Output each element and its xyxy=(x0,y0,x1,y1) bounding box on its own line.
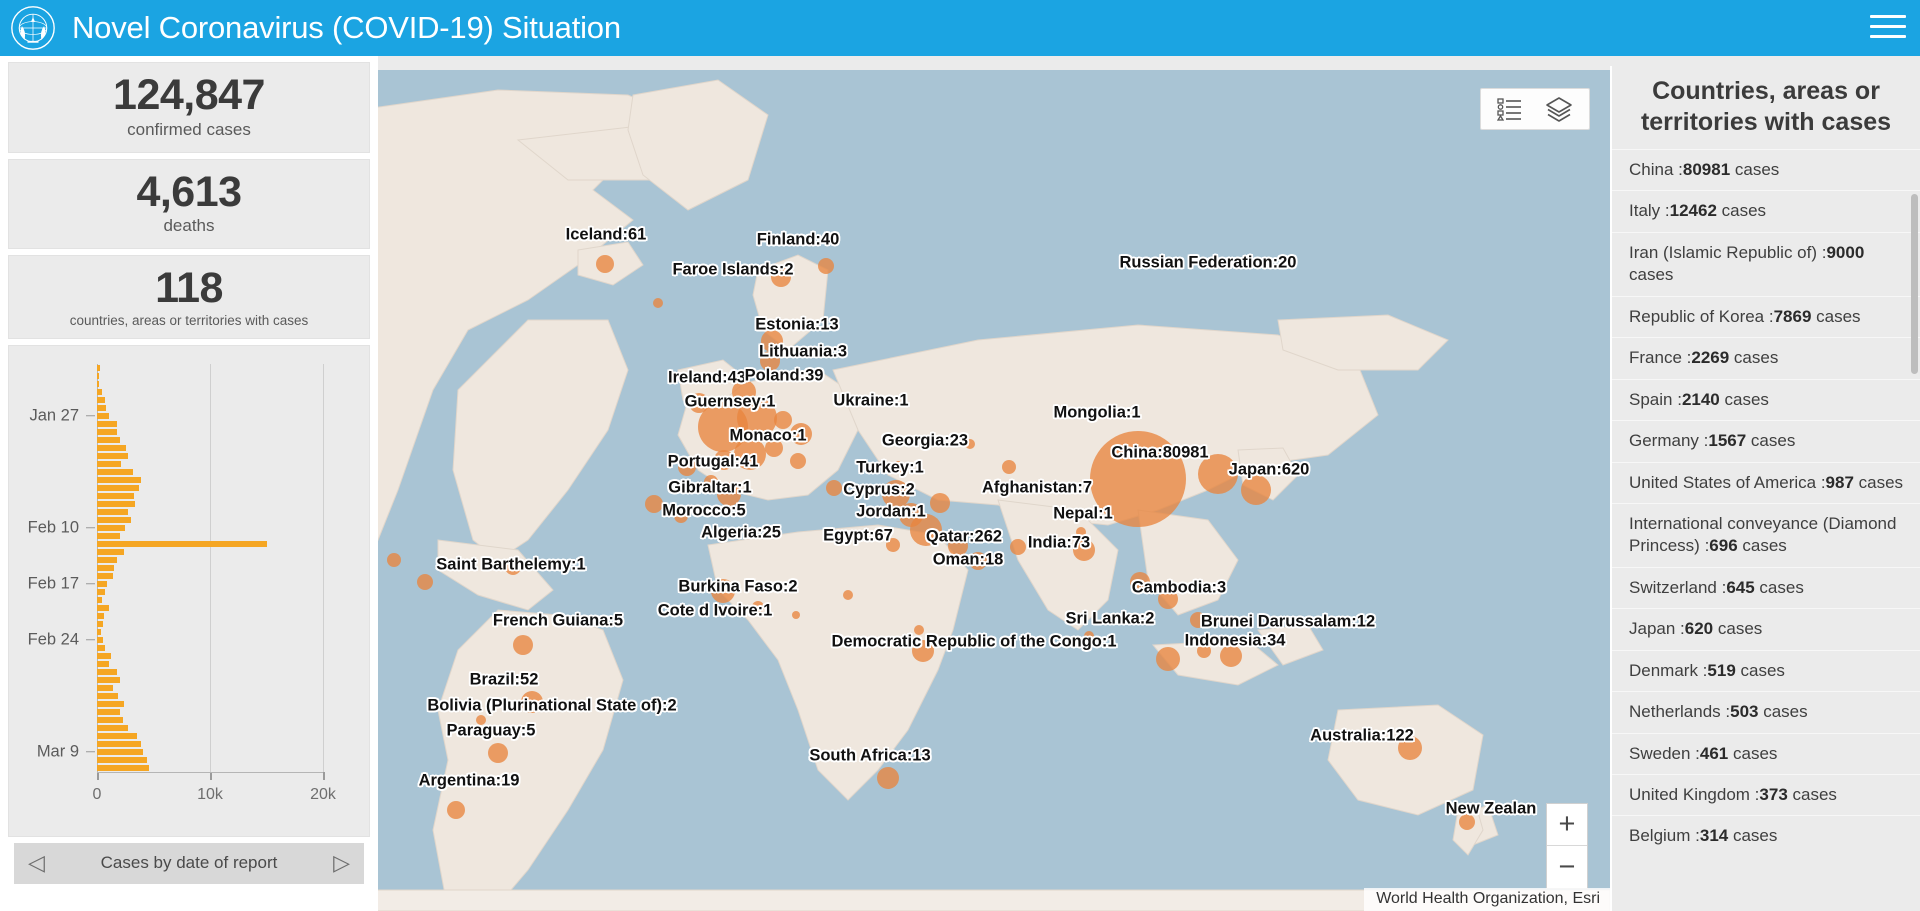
map-case-marker[interactable] xyxy=(771,267,791,287)
chart-bar[interactable] xyxy=(97,493,134,499)
chart-bar[interactable] xyxy=(97,637,103,643)
chart-bar[interactable] xyxy=(97,581,107,587)
chart-y-tick-label: Feb 17 xyxy=(28,574,79,593)
country-case-count: 2269 xyxy=(1691,348,1729,367)
chart-bar[interactable] xyxy=(97,589,105,595)
map-case-marker[interactable] xyxy=(737,398,777,438)
map-case-marker[interactable] xyxy=(914,625,924,635)
country-case-count: 645 xyxy=(1726,578,1754,597)
chart-bar[interactable] xyxy=(97,421,117,427)
map-case-marker[interactable] xyxy=(792,611,800,619)
covid-dashboard: Novel Coronavirus (COVID-19) Situation 1… xyxy=(0,0,1920,911)
chart-bar[interactable] xyxy=(97,477,141,483)
country-case-suffix: cases xyxy=(1759,702,1808,721)
chart-x-tick-label: 20k xyxy=(310,786,336,804)
chart-bar[interactable] xyxy=(97,389,102,395)
map-case-marker[interactable] xyxy=(674,509,688,523)
map-case-marker[interactable] xyxy=(877,767,899,789)
country-case-suffix: cases xyxy=(1717,201,1766,220)
country-case-count: 519 xyxy=(1707,661,1735,680)
country-case-count: 503 xyxy=(1730,702,1758,721)
map-tools-bar[interactable] xyxy=(1480,88,1590,130)
chart-bar[interactable] xyxy=(97,365,100,371)
map-case-marker[interactable] xyxy=(818,258,834,274)
country-case-suffix: cases xyxy=(1728,744,1777,763)
map-case-marker[interactable] xyxy=(1220,645,1242,667)
stat-card-confirmed-cases: 124,847 confirmed cases xyxy=(8,62,370,153)
chart-bar[interactable] xyxy=(97,653,111,659)
chart-y-tick-label: Mar 9 xyxy=(37,742,79,761)
country-list-item[interactable]: United States of America :987 cases xyxy=(1612,462,1920,503)
map-case-marker[interactable] xyxy=(969,552,987,570)
map-case-marker[interactable] xyxy=(1073,539,1095,561)
cases-by-date-chart[interactable]: 010k20kJan 27Feb 10Feb 17Feb 24Mar 9 xyxy=(8,345,370,837)
country-case-count: 80981 xyxy=(1683,160,1730,179)
countries-panel-title: Countries, areas or territories with cas… xyxy=(1612,66,1920,149)
chart-bar[interactable] xyxy=(97,605,109,611)
map-case-marker[interactable] xyxy=(704,475,718,489)
chart-bar[interactable] xyxy=(97,525,125,531)
chart-y-tick-mark xyxy=(86,527,95,529)
country-name: Switzerland : xyxy=(1629,578,1726,597)
country-list-item[interactable]: Denmark :519 cases xyxy=(1612,650,1920,691)
country-name: Belgium : xyxy=(1629,826,1700,845)
chart-bar[interactable] xyxy=(97,429,117,435)
chart-y-tick-label: Feb 24 xyxy=(28,630,79,649)
map-case-marker[interactable] xyxy=(1076,527,1086,537)
chart-bar[interactable] xyxy=(97,749,143,755)
chart-bar[interactable] xyxy=(97,373,99,379)
chart-bar[interactable] xyxy=(97,613,104,619)
chart-y-tick-label: Jan 27 xyxy=(29,406,79,425)
country-case-count: 373 xyxy=(1759,785,1787,804)
map-case-marker[interactable] xyxy=(521,691,543,713)
left-stats-panel: 124,847 confirmed cases 4,613 deaths 118… xyxy=(0,56,378,911)
country-name: China : xyxy=(1629,160,1683,179)
chart-bar[interactable] xyxy=(97,597,102,603)
country-case-suffix: cases xyxy=(1736,661,1785,680)
country-case-count: 1567 xyxy=(1708,431,1746,450)
country-list-item[interactable]: Germany :1567 cases xyxy=(1612,420,1920,461)
country-name: Spain : xyxy=(1629,390,1682,409)
map-case-marker[interactable] xyxy=(760,351,780,371)
country-case-count: 987 xyxy=(1826,473,1854,492)
chart-x-tick-mark xyxy=(210,772,212,780)
map-case-marker[interactable] xyxy=(1002,460,1016,474)
country-case-suffix: cases xyxy=(1713,619,1762,638)
country-list-item[interactable]: Spain :2140 cases xyxy=(1612,379,1920,420)
country-case-suffix: cases xyxy=(1811,307,1860,326)
map-case-marker[interactable] xyxy=(965,439,975,449)
chart-caption: Cases by date of report xyxy=(101,853,278,873)
chart-bar[interactable] xyxy=(97,461,121,467)
who-emblem-icon xyxy=(10,5,56,51)
chart-gridline xyxy=(210,364,211,772)
chart-x-tick-label: 10k xyxy=(197,786,223,804)
deaths-label: deaths xyxy=(13,216,365,236)
chart-bar[interactable] xyxy=(97,717,123,723)
map-case-marker[interactable] xyxy=(513,635,533,655)
chart-bar[interactable] xyxy=(97,533,120,539)
map-case-marker[interactable] xyxy=(790,423,812,445)
map-case-marker[interactable] xyxy=(886,538,900,552)
country-name: Germany : xyxy=(1629,431,1708,450)
country-case-suffix: cases xyxy=(1629,265,1673,284)
map-case-marker[interactable] xyxy=(653,298,663,308)
map-case-marker[interactable] xyxy=(476,715,486,725)
chart-footer-nav: ◁ Cases by date of report ▷ xyxy=(14,843,364,884)
chart-bar[interactable] xyxy=(97,445,126,451)
chart-bar[interactable] xyxy=(97,405,106,411)
map-case-marker[interactable] xyxy=(717,482,741,506)
legend-list-icon[interactable] xyxy=(1497,97,1523,121)
map-case-marker[interactable] xyxy=(948,536,968,556)
country-case-count: 696 xyxy=(1709,536,1737,555)
confirmed-cases-value: 124,847 xyxy=(13,73,365,119)
countries-list-scrollbar[interactable] xyxy=(1911,194,1918,374)
map-case-marker[interactable] xyxy=(387,553,401,567)
country-list-item[interactable]: Iran (Islamic Republic of) :9000 cases xyxy=(1612,232,1920,296)
country-case-suffix: cases xyxy=(1729,348,1778,367)
stat-card-deaths: 4,613 deaths xyxy=(8,159,370,250)
country-name: Netherlands : xyxy=(1629,702,1730,721)
country-list-item[interactable]: Japan :620 cases xyxy=(1612,608,1920,649)
country-case-suffix: cases xyxy=(1746,431,1795,450)
country-list-item[interactable]: International conveyance (Diamond Prince… xyxy=(1612,503,1920,567)
chart-bar[interactable] xyxy=(97,757,147,763)
chart-bar[interactable] xyxy=(97,517,131,523)
map-case-marker[interactable] xyxy=(761,330,783,352)
chart-bar[interactable] xyxy=(97,629,101,635)
country-list-item[interactable]: Italy :12462 cases xyxy=(1612,190,1920,231)
chart-bar[interactable] xyxy=(97,485,139,491)
chart-x-axis xyxy=(97,772,323,773)
country-case-count: 620 xyxy=(1685,619,1713,638)
map-case-marker[interactable] xyxy=(765,439,783,457)
map-case-marker[interactable] xyxy=(892,461,904,473)
country-case-count: 314 xyxy=(1700,826,1728,845)
chart-x-tick-mark xyxy=(323,772,325,780)
chart-bar[interactable] xyxy=(97,381,99,387)
country-list-item[interactable]: Republic of Korea :7869 cases xyxy=(1612,296,1920,337)
map-case-marker[interactable] xyxy=(1459,814,1475,830)
map-case-marker[interactable] xyxy=(826,480,842,496)
chart-bar[interactable] xyxy=(97,669,117,675)
chart-bar[interactable] xyxy=(97,685,113,691)
map-case-marker[interactable] xyxy=(843,590,853,600)
chart-bar[interactable] xyxy=(97,733,137,739)
map-case-marker[interactable] xyxy=(930,493,950,513)
country-case-suffix: cases xyxy=(1788,785,1837,804)
chart-y-tick-mark xyxy=(86,583,95,585)
map-case-marker[interactable] xyxy=(1241,475,1271,505)
chart-gridline xyxy=(323,364,324,772)
chart-bar[interactable] xyxy=(97,501,135,507)
chart-bar[interactable] xyxy=(97,413,109,419)
country-case-suffix: cases xyxy=(1854,473,1903,492)
country-list-item[interactable]: Switzerland :645 cases xyxy=(1612,567,1920,608)
map-case-marker[interactable] xyxy=(417,574,433,590)
map-layers-icon[interactable] xyxy=(1545,96,1573,122)
chart-bar[interactable] xyxy=(97,661,109,667)
country-name: United Kingdom : xyxy=(1629,785,1759,804)
country-case-suffix: cases xyxy=(1728,826,1777,845)
chart-bar[interactable] xyxy=(97,397,105,403)
map-case-marker[interactable] xyxy=(1198,454,1238,494)
country-name: Iran (Islamic Republic of) : xyxy=(1629,243,1826,262)
country-list-item[interactable]: Netherlands :503 cases xyxy=(1612,691,1920,732)
deaths-value: 4,613 xyxy=(13,170,365,216)
map-case-marker[interactable] xyxy=(645,495,663,513)
country-case-count: 7869 xyxy=(1774,307,1812,326)
countries-value: 118 xyxy=(13,266,365,312)
chart-bar[interactable] xyxy=(97,709,120,715)
chart-bar[interactable] xyxy=(97,509,128,515)
world-map[interactable]: Iceland:61Finland:40Faroe Islands:2Russi… xyxy=(378,70,1610,911)
chart-bar[interactable] xyxy=(97,437,120,443)
chart-y-tick-mark xyxy=(86,639,95,641)
map-case-marker[interactable] xyxy=(711,579,735,603)
country-name: Republic of Korea : xyxy=(1629,307,1774,326)
country-list-item[interactable]: France :2269 cases xyxy=(1612,337,1920,378)
map-case-marker[interactable] xyxy=(1197,644,1211,658)
map-case-marker[interactable] xyxy=(678,458,696,476)
chart-bar[interactable] xyxy=(97,741,141,747)
map-case-marker[interactable] xyxy=(790,453,806,469)
country-case-suffix: cases xyxy=(1720,390,1769,409)
map-zoom-controls[interactable]: + − xyxy=(1546,803,1588,889)
chevron-left-icon[interactable]: ◁ xyxy=(28,852,45,874)
map-case-marker[interactable] xyxy=(1084,631,1094,641)
map-case-marker[interactable] xyxy=(734,438,766,470)
map-case-marker[interactable] xyxy=(1398,736,1422,760)
map-case-marker[interactable] xyxy=(1156,647,1180,671)
country-name: Denmark : xyxy=(1629,661,1707,680)
chart-x-tick-mark xyxy=(97,772,99,780)
chart-bar[interactable] xyxy=(97,469,133,475)
chart-bar[interactable] xyxy=(97,453,128,459)
map-case-marker[interactable] xyxy=(912,640,934,662)
map-case-marker[interactable] xyxy=(882,480,910,508)
chart-y-tick-mark xyxy=(86,415,95,417)
country-case-count: 2140 xyxy=(1682,390,1720,409)
chart-bar[interactable] xyxy=(97,701,124,707)
country-name: Japan : xyxy=(1629,619,1685,638)
country-list-item[interactable]: Sweden :461 cases xyxy=(1612,733,1920,774)
country-case-count: 461 xyxy=(1700,744,1728,763)
map-case-marker[interactable] xyxy=(714,450,734,470)
countries-list-panel: Countries, areas or territories with cas… xyxy=(1610,66,1920,911)
chart-bar[interactable] xyxy=(97,549,124,555)
map-case-marker[interactable] xyxy=(1190,612,1206,628)
country-name: Italy : xyxy=(1629,201,1670,220)
country-list-item[interactable]: Belgium :314 cases xyxy=(1612,815,1920,856)
chart-plot-area: 010k20kJan 27Feb 10Feb 17Feb 24Mar 9 xyxy=(9,346,369,836)
chart-bar[interactable] xyxy=(97,677,120,683)
map-case-marker[interactable] xyxy=(774,411,792,429)
chart-bar[interactable] xyxy=(97,621,103,627)
map-attribution: World Health Organization, Esri xyxy=(1364,888,1610,911)
zoom-out-button[interactable]: − xyxy=(1547,846,1587,888)
country-case-count: 12462 xyxy=(1670,201,1717,220)
hamburger-menu-icon[interactable] xyxy=(1870,15,1906,41)
chart-bar[interactable] xyxy=(97,557,117,563)
map-case-marker[interactable] xyxy=(1090,431,1186,527)
map-case-marker[interactable] xyxy=(1010,539,1026,555)
chart-y-tick-mark xyxy=(86,751,95,753)
country-name: Sweden : xyxy=(1629,744,1700,763)
chart-bar[interactable] xyxy=(97,541,267,547)
country-name: United States of America : xyxy=(1629,473,1826,492)
map-case-marker[interactable] xyxy=(1095,408,1105,418)
chart-bar[interactable] xyxy=(97,693,118,699)
chevron-right-icon[interactable]: ▷ xyxy=(333,852,350,874)
country-case-suffix: cases xyxy=(1755,578,1804,597)
country-case-count: 9000 xyxy=(1826,243,1864,262)
chart-bar[interactable] xyxy=(97,725,128,731)
map-case-marker[interactable] xyxy=(752,601,764,613)
country-list-item[interactable]: United Kingdom :373 cases xyxy=(1612,774,1920,815)
chart-x-tick-label: 0 xyxy=(93,786,102,804)
chart-y-tick-label: Feb 10 xyxy=(28,518,79,537)
page-title: Novel Coronavirus (COVID-19) Situation xyxy=(72,10,621,46)
countries-label: countries, areas or territories with cas… xyxy=(13,313,365,328)
map-case-marker[interactable] xyxy=(1130,572,1150,592)
zoom-in-button[interactable]: + xyxy=(1547,804,1587,846)
country-case-suffix: cases xyxy=(1738,536,1787,555)
app-header: Novel Coronavirus (COVID-19) Situation xyxy=(0,0,1920,56)
country-list-item[interactable]: China :80981 cases xyxy=(1612,149,1920,190)
country-case-suffix: cases xyxy=(1730,160,1779,179)
map-case-marker[interactable] xyxy=(910,514,942,546)
country-name: France : xyxy=(1629,348,1691,367)
map-case-marker[interactable] xyxy=(488,743,508,763)
chart-bar[interactable] xyxy=(97,765,149,771)
map-case-marker[interactable] xyxy=(596,255,614,273)
chart-bar[interactable] xyxy=(97,565,114,571)
chart-bar[interactable] xyxy=(97,645,105,651)
map-case-marker[interactable] xyxy=(447,801,465,819)
map-case-marker[interactable] xyxy=(1158,589,1178,609)
countries-list: China :80981 casesItaly :12462 casesIran… xyxy=(1612,149,1920,857)
stat-card-countries: 118 countries, areas or territories with… xyxy=(8,255,370,339)
confirmed-cases-label: confirmed cases xyxy=(13,120,365,140)
map-basemap xyxy=(378,70,1610,911)
chart-bar[interactable] xyxy=(97,573,113,579)
map-case-marker[interactable] xyxy=(505,559,521,575)
